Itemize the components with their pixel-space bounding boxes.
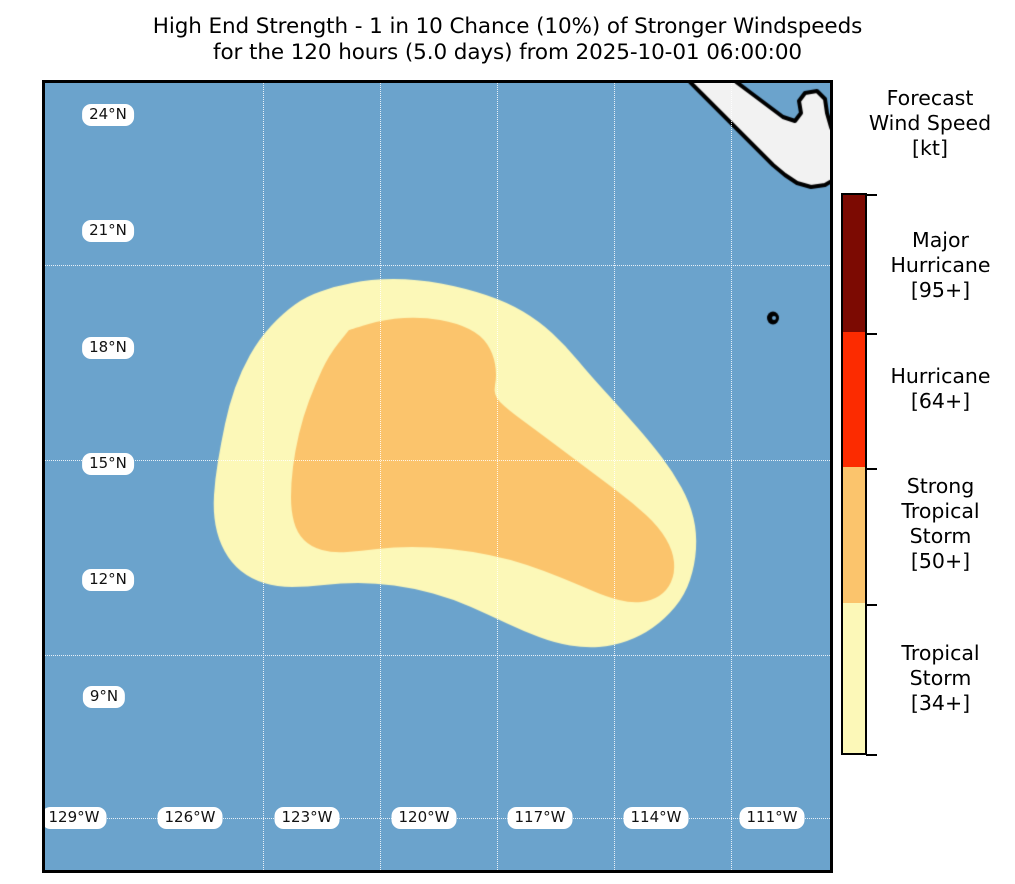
label-strong-ts-line-1: Strong [866,474,1015,499]
label-tropical-storm-line-1: Tropical [866,641,1015,666]
colorbar-title-line-2: Wind Speed [845,111,1015,136]
lon-tick-120w: 120°W [392,807,457,829]
colorbar-label-strong-tropical-storm: Strong Tropical Storm [50+] [866,474,1015,574]
colorbar-segment-strong-ts[interactable] [843,467,865,603]
lat-tick-24n: 24°N [82,104,134,126]
label-strong-ts-line-3: Storm [866,524,1015,549]
label-hurricane-line-1: Hurricane [866,364,1015,389]
lat-tick-21n: 21°N [82,220,134,242]
colorbar-title: Forecast Wind Speed [kt] [845,86,1015,161]
colorbar-title-line-1: Forecast [845,86,1015,111]
colorbar-tick-50 [866,604,877,606]
lon-tick-117w: 117°W [508,807,573,829]
colorbar[interactable] [841,193,867,755]
gridline-lon-123w [263,83,264,870]
label-strong-ts-line-4: [50+] [866,549,1015,574]
lon-tick-129w: 129°W [42,807,106,829]
lon-tick-114w: 114°W [624,807,689,829]
label-major-hurricane-line-1: Major [866,228,1015,253]
lon-tick-111w: 111°W [740,807,805,829]
colorbar-tick-95 [866,333,877,335]
colorbar-label-major-hurricane: Major Hurricane [95+] [866,228,1015,303]
colorbar-title-line-3: [kt] [845,136,1015,161]
gridline-lat-21n [45,265,830,266]
gridline-lat-15n [45,460,830,461]
colorbar-segment-hurricane[interactable] [843,332,865,467]
colorbar-segment-major-hurricane[interactable] [843,195,865,332]
colorbar-tick-64 [866,468,877,470]
lat-tick-12n: 12°N [82,569,134,591]
gridline-lon-111w [731,83,732,870]
lat-tick-9n: 9°N [83,686,125,708]
gridline-lon-114w [614,83,615,870]
label-tropical-storm-line-3: [34+] [866,691,1015,716]
colorbar-label-hurricane: Hurricane [64+] [866,364,1015,414]
colorbar-segment-tropical-storm[interactable] [843,603,865,753]
forecast-map[interactable]: 24°N 21°N 18°N 15°N 12°N 9°N 129°W 126°W… [42,80,833,873]
page-title: High End Strength - 1 in 10 Chance (10%)… [0,14,1015,66]
label-major-hurricane-line-2: Hurricane [866,253,1015,278]
gridline-lon-117w [497,83,498,870]
gridline-lat-9n [45,655,830,656]
lat-tick-15n: 15°N [82,453,134,475]
label-major-hurricane-line-3: [95+] [866,278,1015,303]
colorbar-tick-34 [866,754,877,756]
lat-tick-18n: 18°N [82,337,134,359]
colorbar-tick-top [866,194,877,196]
lon-tick-126w: 126°W [158,807,223,829]
label-hurricane-line-2: [64+] [866,389,1015,414]
map-contour-canvas [45,83,830,870]
label-tropical-storm-line-2: Storm [866,666,1015,691]
lon-tick-123w: 123°W [275,807,340,829]
title-line-2: for the 120 hours (5.0 days) from 2025-1… [0,40,1015,66]
gridline-lon-120w [380,83,381,870]
title-line-1: High End Strength - 1 in 10 Chance (10%)… [0,14,1015,40]
label-strong-ts-line-2: Tropical [866,499,1015,524]
colorbar-label-tropical-storm: Tropical Storm [34+] [866,641,1015,716]
